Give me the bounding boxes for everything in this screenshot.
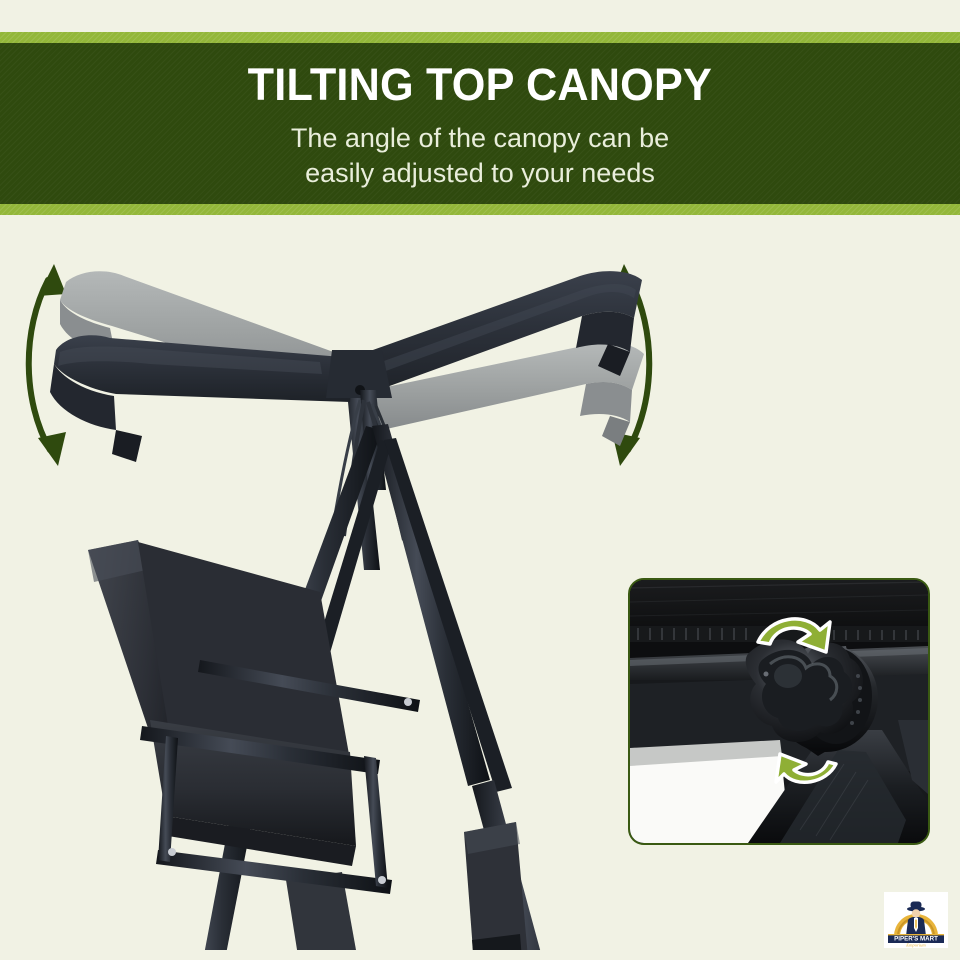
brand-logo: PIPER'S MART Emporium	[884, 892, 948, 948]
banner-top-stripe	[0, 32, 960, 43]
page-title: TILTING TOP CANOPY	[248, 62, 712, 107]
patio-swing-product-image	[20, 240, 680, 950]
page-subtitle-line-2: easily adjusted to your needs	[291, 156, 669, 191]
page-subtitle: The angle of the canopy can be easily ad…	[291, 121, 669, 191]
page-subtitle-line-1: The angle of the canopy can be	[291, 121, 669, 156]
knob-closeup-inset	[628, 578, 930, 845]
headline-banner: TILTING TOP CANOPY The angle of the cano…	[0, 32, 960, 215]
banner-bottom-stripe	[0, 204, 960, 215]
logo-tagline: Emporium	[905, 942, 926, 947]
